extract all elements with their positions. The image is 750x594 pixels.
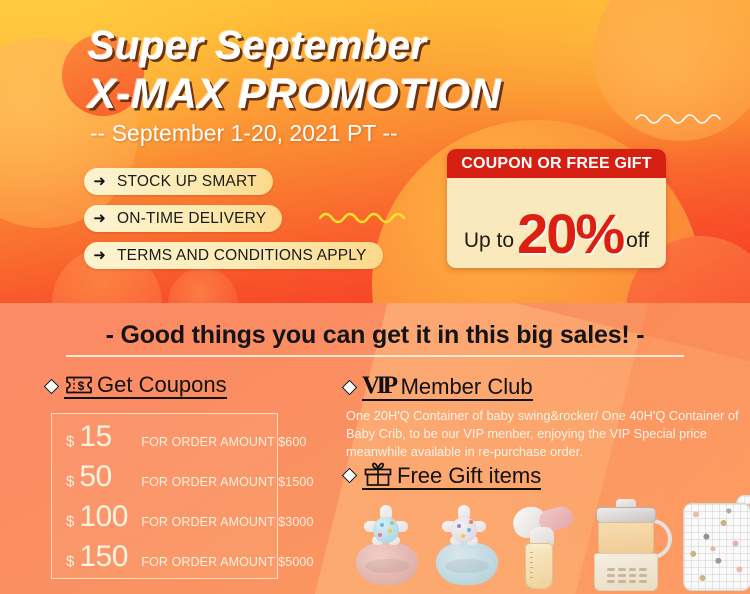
coupon-currency: $ (66, 553, 74, 570)
coupon-offer-card[interactable]: COUPON OR FREE GIFT Up to 20% off (447, 149, 666, 268)
coupon-tier-row: $ 100 FOR ORDER AMOUNT $3000 (52, 500, 277, 540)
feature-pill-label: TERMS AND CONDITIONS APPLY (117, 247, 367, 265)
vip-member-club-heading: VIP Member Club (344, 373, 533, 401)
discount-value: 20% (517, 209, 623, 259)
feature-pill-stock-up-smart[interactable]: ➜ STOCK UP SMART (84, 168, 273, 195)
coupon-amount: 150 (79, 540, 141, 574)
benefits-section-title: - Good things you can get it in this big… (0, 321, 750, 350)
coupon-currency: $ (66, 433, 74, 450)
product-baby-pillow-blue (436, 543, 498, 585)
svg-text:$: $ (78, 379, 85, 393)
double-arrow-icon: ➜ (89, 208, 110, 229)
free-gift-product-images (350, 499, 750, 594)
benefits-section-title-label: - Good things you can get it in this big… (106, 321, 645, 349)
double-arrow-icon: ➜ (89, 245, 110, 266)
product-water-kettle (590, 499, 672, 591)
vip-member-club-label: Member Club (401, 375, 533, 398)
product-changing-pad-front (683, 503, 750, 591)
headline-primary: Super September (88, 24, 427, 69)
gift-box-icon (362, 461, 394, 487)
discount-prefix: Up to (464, 229, 514, 253)
product-breast-pump (513, 501, 579, 589)
get-coupons-heading: $ Get Coupons (46, 373, 227, 399)
feature-pill-label: ON-TIME DELIVERY (117, 210, 266, 228)
feature-pill-terms-and-conditions[interactable]: ➜ TERMS AND CONDITIONS APPLY (84, 242, 383, 269)
diamond-bullet-icon (342, 379, 358, 395)
coupon-currency: $ (66, 473, 74, 490)
coupon-tier-row: $ 150 FOR ORDER AMOUNT $5000 (52, 540, 277, 580)
coupon-card-header: COUPON OR FREE GIFT (447, 149, 666, 178)
coupon-tiers-table: $ 15 FOR ORDER AMOUNT $600 $ 50 FOR ORDE… (51, 413, 278, 579)
coupon-amount: 50 (79, 460, 141, 494)
coupon-condition: FOR ORDER AMOUNT $600 (141, 435, 306, 449)
coupon-amount: 15 (79, 420, 141, 454)
coupon-condition: FOR ORDER AMOUNT $3000 (141, 515, 313, 529)
hero-section: Super September X-MAX PROMOTION -- Septe… (0, 0, 750, 303)
feature-pill-on-time-delivery[interactable]: ➜ ON-TIME DELIVERY (84, 205, 282, 232)
vip-description: One 20H'Q Container of baby swing&rocker… (346, 407, 742, 461)
coupon-tier-row: $ 50 FOR ORDER AMOUNT $1500 (52, 460, 277, 500)
ticket-dollar-icon: $ (64, 374, 94, 396)
diamond-bullet-icon (44, 378, 60, 394)
coupon-currency: $ (66, 513, 74, 530)
discount-suffix: off (626, 229, 649, 253)
product-baby-pillow-pink (356, 543, 418, 585)
feature-pill-label: STOCK UP SMART (117, 173, 257, 191)
promotional-banner: Super September X-MAX PROMOTION -- Septe… (0, 0, 750, 594)
coupon-tier-row: $ 15 FOR ORDER AMOUNT $600 (52, 420, 277, 460)
coupon-condition: FOR ORDER AMOUNT $5000 (141, 555, 313, 569)
free-gift-items-label: Free Gift items (397, 464, 541, 487)
coupon-card-body: Up to 20% off (447, 178, 666, 268)
feature-pill-list: ➜ STOCK UP SMART ➜ ON-TIME DELIVERY ➜ TE… (84, 168, 383, 279)
vip-logo: VIP (362, 373, 395, 398)
double-arrow-icon: ➜ (89, 171, 110, 192)
get-coupons-label: Get Coupons (97, 373, 227, 396)
product-rattle-toy-blue (364, 505, 408, 545)
headline-secondary: X-MAX PROMOTION (88, 70, 502, 118)
coupon-amount: 100 (79, 500, 141, 534)
coupon-condition: FOR ORDER AMOUNT $1500 (141, 475, 313, 489)
section-title-underline (66, 355, 684, 357)
free-gift-items-heading: Free Gift items (344, 461, 541, 490)
promotion-dateline: -- September 1-20, 2021 PT -- (90, 120, 398, 147)
diamond-bullet-icon (342, 468, 358, 484)
benefits-section: - Good things you can get it in this big… (0, 303, 750, 594)
coupon-card-header-label: COUPON OR FREE GIFT (461, 155, 651, 173)
product-rattle-toy-white (442, 505, 486, 545)
